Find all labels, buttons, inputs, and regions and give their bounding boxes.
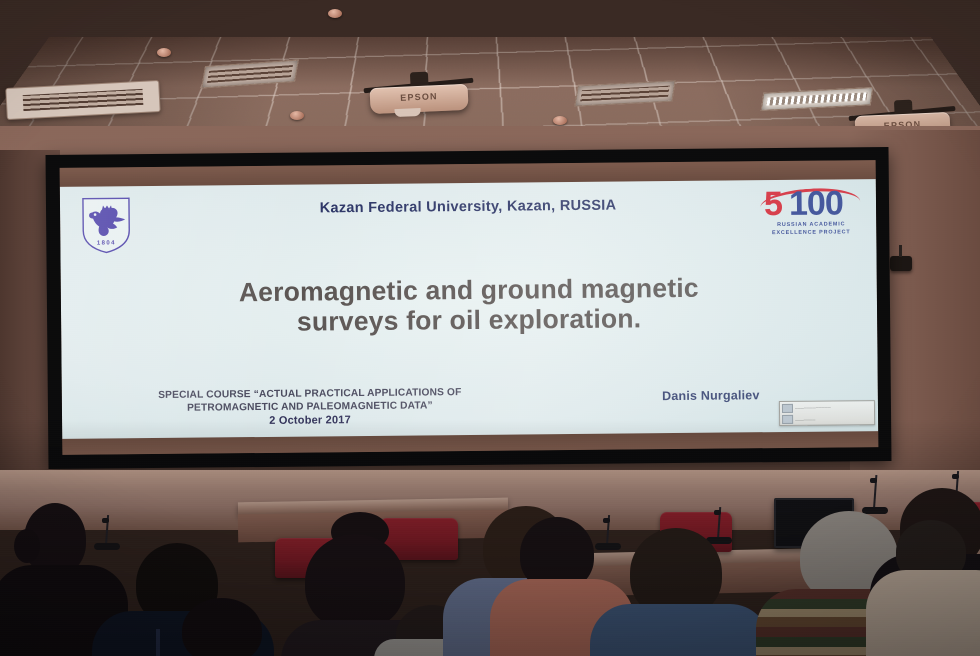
- logo-subtitle-line2: EXCELLENCE PROJECT: [758, 230, 864, 238]
- smoke-detector-4: [553, 116, 567, 125]
- projection-screen-frame: 1804 5 100 RUSSIAN ACADEMIC EXCELLENCE P…: [46, 147, 892, 469]
- smoke-detector-2: [328, 9, 342, 18]
- projector-left: EPSON: [369, 70, 469, 124]
- dialog-row-2: ———————: [780, 412, 874, 424]
- dialog-footer-text: ———: [780, 424, 874, 426]
- projection-screen-surface: 1804 5 100 RUSSIAN ACADEMIC EXCELLENCE P…: [60, 160, 879, 455]
- wall-mounted-camera: [890, 256, 912, 271]
- slide-main-title: Aeromagnetic and ground magnetic surveys…: [121, 272, 818, 339]
- dialog-icon-2: [782, 415, 793, 424]
- presentation-slide: 1804 5 100 RUSSIAN ACADEMIC EXCELLENCE P…: [60, 179, 878, 439]
- smoke-detector-1: [157, 48, 171, 57]
- overlay-notification-dialog[interactable]: ———————————— ——————— ———: [779, 400, 875, 426]
- dialog-icon-1: [782, 404, 793, 413]
- audience-person-3: [160, 598, 290, 656]
- dialog-row-1: ————————————: [780, 401, 874, 413]
- dialog-text-2: ———————: [795, 417, 815, 421]
- slide-course-block: SPECIAL COURSE “ACTUAL PRACTICAL APPLICA…: [90, 386, 530, 429]
- lecture-hall-photo: EPSON EPSON: [0, 0, 980, 656]
- smoke-detector-3: [290, 111, 304, 120]
- slide-title-line-2: surveys for oil exploration.: [121, 302, 817, 339]
- audience-person-11: [860, 520, 980, 656]
- audience-person-8: [600, 528, 750, 656]
- slide-university-header: Kazan Federal University, Kazan, RUSSIA: [60, 195, 876, 219]
- svg-text:1804: 1804: [97, 240, 116, 246]
- projector-lens-left: [394, 108, 420, 117]
- dialog-text-1: ————————————: [795, 406, 831, 410]
